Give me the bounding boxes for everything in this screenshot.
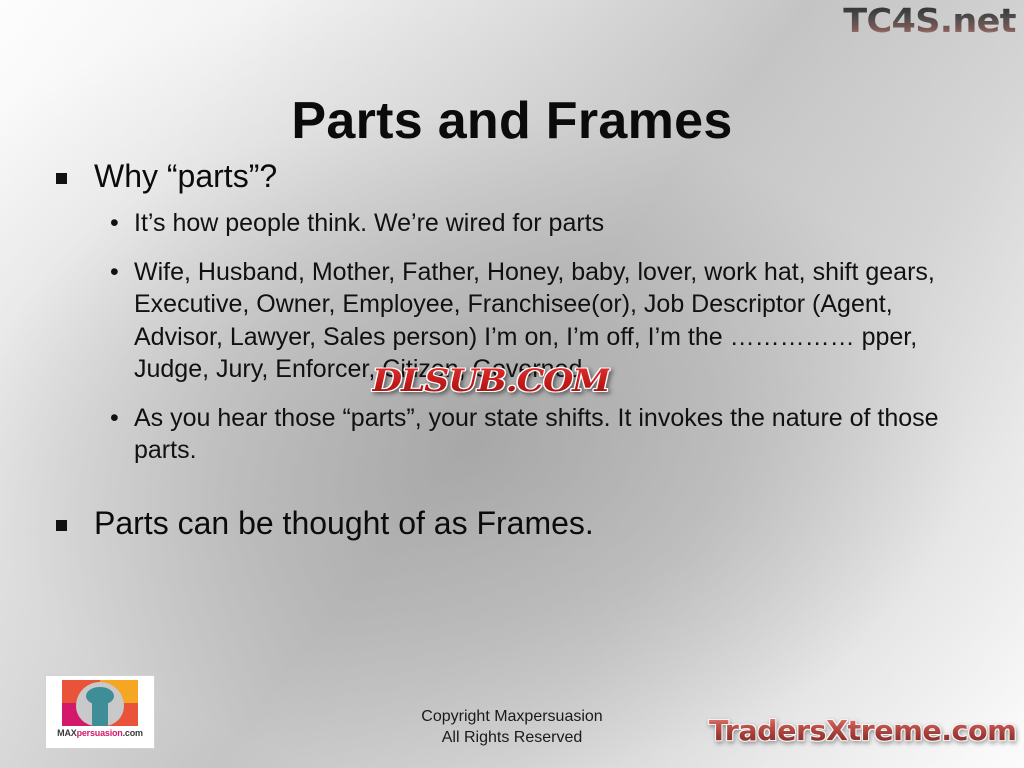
square-bullet-icon	[56, 173, 67, 184]
round-bullet-icon: •	[110, 256, 119, 289]
maxpersuasion-logo: MAXpersuasion.com	[45, 675, 155, 749]
bullet-level1-why-parts: Why “parts”?	[46, 158, 986, 195]
spacer	[46, 483, 986, 505]
maxpersuasion-logo-text: MAXpersuasion.com	[46, 728, 154, 738]
list-item: • As you hear those “parts”, your state …	[106, 402, 986, 467]
tradersxtreme-logo: TradersXtreme.com	[709, 714, 1016, 748]
list-item: • Wife, Husband, Mother, Father, Honey, …	[106, 256, 986, 386]
list-item-label: As you hear those “parts”, your state sh…	[134, 404, 939, 465]
bullet-level1-label: Parts can be thought of as Frames.	[94, 505, 594, 541]
tc4s-brand-logo: TC4S.net	[843, 2, 1016, 40]
logo-text-domain: .com	[123, 728, 143, 738]
round-bullet-icon: •	[110, 402, 119, 435]
sub-bullet-list: • It’s how people think. We’re wired for…	[46, 207, 986, 467]
bullet-level1-parts-as-frames: Parts can be thought of as Frames.	[46, 505, 986, 542]
round-bullet-icon: •	[110, 207, 119, 240]
slide-canvas: TC4S.net Parts and Frames Why “parts”? •…	[0, 0, 1024, 768]
list-item-label: It’s how people think. We’re wired for p…	[134, 209, 604, 237]
logo-neck-shape	[92, 700, 108, 726]
list-item: • It’s how people think. We’re wired for…	[106, 207, 986, 240]
list-item-label: Wife, Husband, Mother, Father, Honey, ba…	[134, 258, 935, 384]
page-title: Parts and Frames	[0, 91, 1024, 151]
keyhole-head-icon	[62, 680, 138, 726]
square-bullet-icon	[56, 520, 67, 531]
logo-text-persuasion: persuasion	[77, 728, 123, 738]
slide-body: Why “parts”? • It’s how people think. We…	[46, 158, 986, 548]
bullet-level1-label: Why “parts”?	[94, 158, 277, 194]
logo-text-max: MAX	[57, 728, 76, 738]
